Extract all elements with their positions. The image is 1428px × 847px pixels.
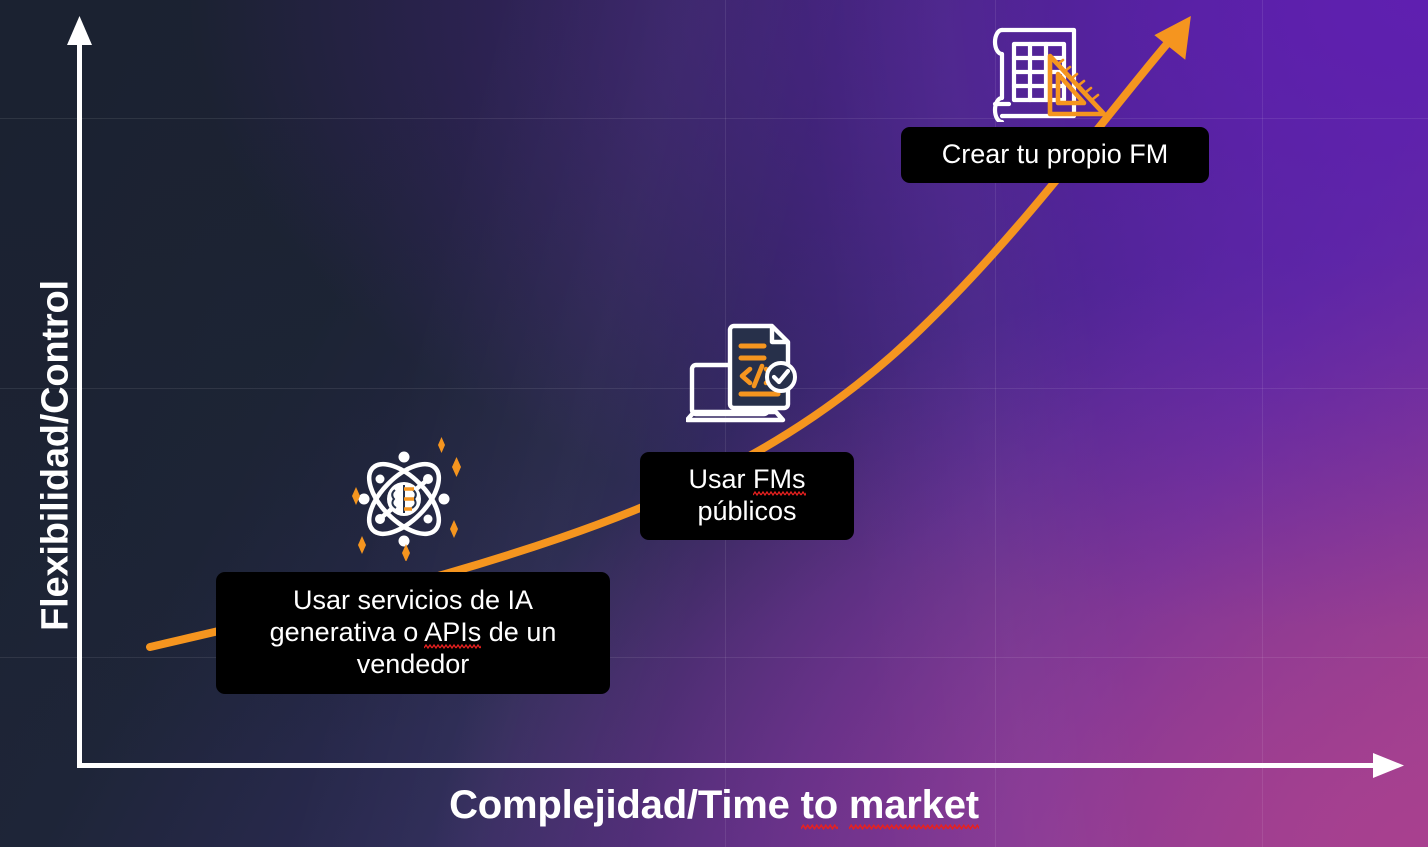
callout-stage-1-line-2: generativa o APIs de un — [226, 616, 600, 648]
atom-ai-icon — [342, 437, 466, 561]
slide-canvas: Flexibilidad/Control Complejidad/Time to… — [0, 0, 1428, 847]
callout-stage-3-line-1: Crear tu propio FM — [911, 138, 1199, 170]
callout-stage-1-line-3: vendedor — [226, 648, 600, 680]
x-axis-title: Complejidad/Time to market — [0, 783, 1428, 828]
callout-stage-3[interactable]: Crear tu propio FM — [901, 127, 1209, 183]
callout-stage-1-line-2-pre: generativa o — [270, 617, 425, 647]
callout-stage-1-line-2-post: de un — [481, 617, 556, 647]
callout-stage-2[interactable]: Usar FMs públicos — [640, 452, 854, 540]
x-axis-title-space — [838, 783, 849, 827]
callout-stage-2-line-1: Usar FMs — [650, 463, 844, 495]
callout-stage-1-line-1: Usar servicios de IA — [226, 584, 600, 616]
callout-stage-1[interactable]: Usar servicios de IA generativa o APIs d… — [216, 572, 610, 694]
code-document-laptop-icon — [686, 320, 804, 438]
callout-stage-2-line-1-pre: Usar — [689, 464, 754, 494]
x-axis-title-misspelled-to: to — [801, 783, 838, 830]
x-axis-title-misspelled-market: market — [849, 783, 979, 830]
blueprint-ruler-icon — [986, 18, 1110, 122]
callout-stage-2-misspelled-fms: FMs — [753, 464, 805, 496]
y-axis-title: Flexibilidad/Control — [35, 196, 78, 716]
x-axis-title-text-plain: Complejidad/Time — [449, 783, 800, 827]
callout-stage-1-misspelled-apis: APIs — [424, 617, 481, 649]
callout-stage-2-line-2: públicos — [650, 495, 844, 527]
